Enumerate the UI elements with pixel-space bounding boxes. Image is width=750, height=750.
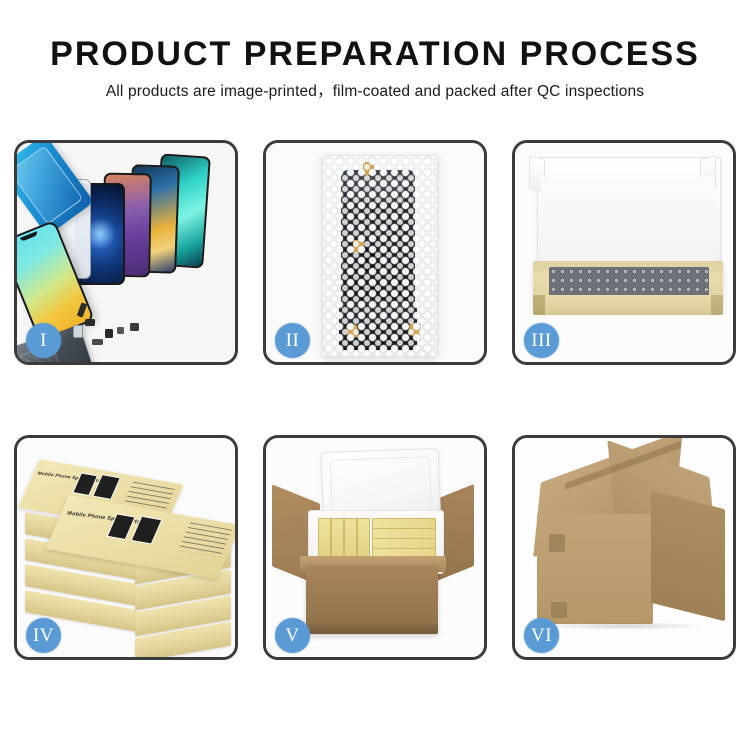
carton-tape-mark-1 xyxy=(549,534,565,552)
camera-cutout xyxy=(363,248,375,272)
process-step-panel-4: Mobile Phone Spare Parts Mobile Phone Sp… xyxy=(14,435,238,660)
process-step-panel-2: II xyxy=(263,140,487,365)
label-spec-lines-front xyxy=(178,522,232,557)
step-badge-6: VI xyxy=(524,618,559,653)
yellow-box-front-face xyxy=(533,295,723,315)
step-badge-4: IV xyxy=(26,618,61,653)
box-stack: Mobile Phone Spare Parts Mobile Phone Sp… xyxy=(23,456,231,642)
adhesive-tab-3 xyxy=(346,324,359,339)
carton-tape-mark-2 xyxy=(551,602,567,618)
step-badge-5: V xyxy=(275,618,310,653)
header: PRODUCT PREPARATION PROCESS All products… xyxy=(0,34,750,102)
small-part-6 xyxy=(73,325,83,338)
carton-ground-shadow xyxy=(541,622,707,630)
small-part-7 xyxy=(92,339,103,345)
step-badge-1: I xyxy=(26,323,61,358)
process-step-panel-6: VI xyxy=(512,435,736,660)
carton-side-face xyxy=(651,491,725,621)
page-subtitle: All products are image-printed，film-coat… xyxy=(0,82,750,102)
process-step-grid: I II xyxy=(14,140,736,685)
step-badge-3: III xyxy=(524,323,559,358)
inner-yellow-box-1 xyxy=(318,518,331,560)
product-preparation-infographic: PRODUCT PREPARATION PROCESS All products… xyxy=(0,0,750,750)
process-step-panel-1: I xyxy=(14,140,238,365)
process-step-panel-5: V xyxy=(263,435,487,660)
bubble-wrap-filling xyxy=(549,267,709,297)
process-step-panel-3: III xyxy=(512,140,736,365)
small-part-3 xyxy=(105,329,113,338)
inner-yellow-box-3 xyxy=(344,518,357,560)
small-part-5 xyxy=(130,323,139,331)
adhesive-tab-2 xyxy=(353,240,364,253)
inner-yellow-box-2 xyxy=(331,518,344,560)
adhesive-tab-4 xyxy=(408,322,421,337)
inner-yellow-box-4 xyxy=(357,518,370,560)
adhesive-tab-1 xyxy=(363,162,374,175)
carton-body xyxy=(306,566,438,634)
page-title: PRODUCT PREPARATION PROCESS xyxy=(0,34,750,74)
small-part-4 xyxy=(117,327,124,334)
small-part-2 xyxy=(85,319,95,326)
step-badge-2: II xyxy=(275,323,310,358)
bubble-wrap-bag xyxy=(322,155,438,357)
